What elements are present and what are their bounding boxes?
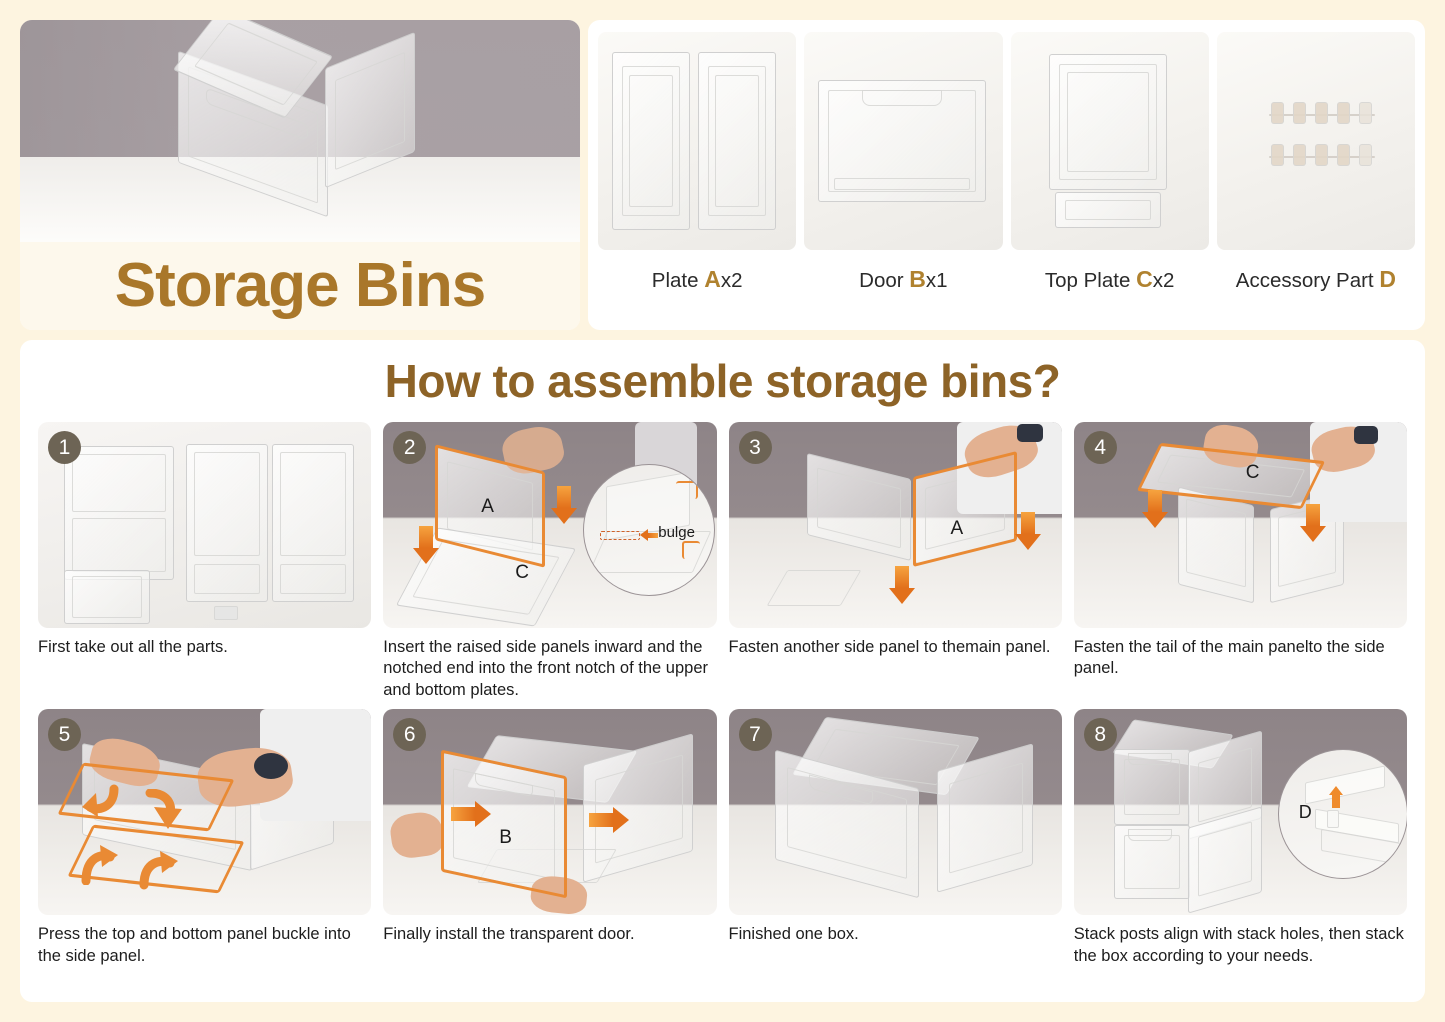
- step-4-badge: 4: [1084, 431, 1117, 464]
- part-caption-b: Door Bx1: [859, 266, 947, 293]
- part-thumb-top-plate-c: [1011, 32, 1209, 250]
- step-5-curve-arrow-1: [80, 783, 124, 828]
- step-8-caption: Stack posts align with stack holes, then…: [1074, 924, 1407, 967]
- step-4-label-c: C: [1246, 462, 1260, 484]
- step-2-image: 2 A C: [383, 422, 716, 628]
- part-qty-a: x2: [721, 269, 743, 292]
- step-2-label-a: A: [481, 496, 494, 518]
- step-2-arrow-down-right: [551, 486, 577, 524]
- step-5-caption: Press the top and bottom panel buckle in…: [38, 924, 371, 967]
- step-6-arrow-right-door: [451, 801, 491, 827]
- step-6-badge: 6: [393, 718, 426, 751]
- step-3: 3 A Fasten another side panel: [729, 422, 1062, 701]
- step-1-badge: 1: [48, 431, 81, 464]
- parts-panel: Plate Ax2 Door Bx1: [588, 20, 1425, 330]
- step-8-image: 8: [1074, 709, 1407, 915]
- step-6-caption: Finally install the transparent door.: [383, 924, 716, 945]
- part-name-b: Door: [859, 269, 909, 292]
- hero-panel: Storage Bins: [20, 20, 580, 330]
- step-8: 8: [1074, 709, 1407, 967]
- part-item-c: Top Plate Cx2: [1011, 32, 1209, 318]
- step-4-arrow-down-right: [1300, 504, 1326, 542]
- step-1-image: 1: [38, 422, 371, 628]
- part-thumb-door-b: [804, 32, 1002, 250]
- part-letter-d: D: [1379, 266, 1396, 292]
- step-2: 2 A C: [383, 422, 716, 701]
- step-1-caption: First take out all the parts.: [38, 637, 371, 658]
- part-letter-a: A: [704, 266, 721, 292]
- part-caption-a: Plate Ax2: [652, 266, 743, 293]
- top-section: Storage Bins Plate Ax2: [20, 20, 1425, 330]
- step-2-caption: Insert the raised side panels inward and…: [383, 637, 716, 701]
- step-8-label-d: D: [1299, 802, 1312, 823]
- part-name-c: Top Plate: [1045, 269, 1136, 292]
- step-3-caption: Fasten another side panel to themain pan…: [729, 637, 1062, 658]
- part-thumb-accessory-d: [1217, 32, 1415, 250]
- step-5-curve-arrow-2: [142, 789, 186, 836]
- step-4-caption: Fasten the tail of the main panelto the …: [1074, 637, 1407, 680]
- step-2-label-c: C: [515, 562, 529, 584]
- part-name-a: Plate: [652, 269, 704, 292]
- part-item-a: Plate Ax2: [598, 32, 796, 318]
- step-3-label-a: A: [951, 518, 964, 540]
- step-2-badge: 2: [393, 431, 426, 464]
- step-5-curve-arrow-3: [76, 841, 120, 890]
- step-3-arrow-down-right: [1015, 512, 1041, 550]
- step-8-post-arrow: [1329, 786, 1343, 808]
- part-qty-c: x2: [1153, 269, 1175, 292]
- step-4: 4 C Fast: [1074, 422, 1407, 701]
- step-8-magnifier: D: [1278, 749, 1407, 879]
- step-4-image: 4 C: [1074, 422, 1407, 628]
- part-caption-c: Top Plate Cx2: [1045, 266, 1174, 293]
- step-6-label-b: B: [499, 827, 512, 849]
- assembly-heading: How to assemble storage bins?: [38, 354, 1407, 408]
- step-6-arrow-right-box: [589, 807, 629, 833]
- step-7-image: 7: [729, 709, 1062, 915]
- part-caption-d: Accessory Part D: [1236, 266, 1396, 293]
- part-item-b: Door Bx1: [804, 32, 1002, 318]
- step-2-arrow-down-left: [413, 526, 439, 564]
- infographic-page: Storage Bins Plate Ax2: [0, 0, 1445, 1022]
- part-letter-c: C: [1136, 266, 1153, 292]
- step-3-badge: 3: [739, 431, 772, 464]
- page-title: Storage Bins: [115, 255, 485, 317]
- hero-product-photo: [20, 20, 580, 242]
- step-5-image: 5: [38, 709, 371, 915]
- step-7-badge: 7: [739, 718, 772, 751]
- steps-grid: 1 First take out all the parts.: [38, 422, 1407, 967]
- step-5-curve-arrow-4: [136, 847, 180, 896]
- step-5-badge: 5: [48, 718, 81, 751]
- step-6: 6 B Finally install: [383, 709, 716, 967]
- part-thumb-plate-a: [598, 32, 796, 250]
- step-3-arrow-down-center: [889, 566, 915, 604]
- step-2-magnifier: bulge: [583, 464, 715, 596]
- step-4-arrow-down-left: [1142, 490, 1168, 528]
- part-letter-b: B: [909, 266, 926, 292]
- step-3-image: 3 A: [729, 422, 1062, 628]
- step-2-bulge-arrow: [640, 527, 658, 543]
- step-2-bulge-label: bulge: [658, 524, 695, 541]
- step-6-image: 6 B: [383, 709, 716, 915]
- part-qty-b: x1: [926, 269, 948, 292]
- step-7-caption: Finished one box.: [729, 924, 1062, 945]
- part-name-d: Accessory Part: [1236, 269, 1380, 292]
- step-5: 5: [38, 709, 371, 967]
- step-7: 7 Finished one box.: [729, 709, 1062, 967]
- assembly-panel: How to assemble storage bins? 1: [20, 340, 1425, 1002]
- part-item-d: Accessory Part D: [1217, 32, 1415, 318]
- step-8-badge: 8: [1084, 718, 1117, 751]
- step-1: 1 First take out all the parts.: [38, 422, 371, 701]
- title-band: Storage Bins: [20, 242, 580, 330]
